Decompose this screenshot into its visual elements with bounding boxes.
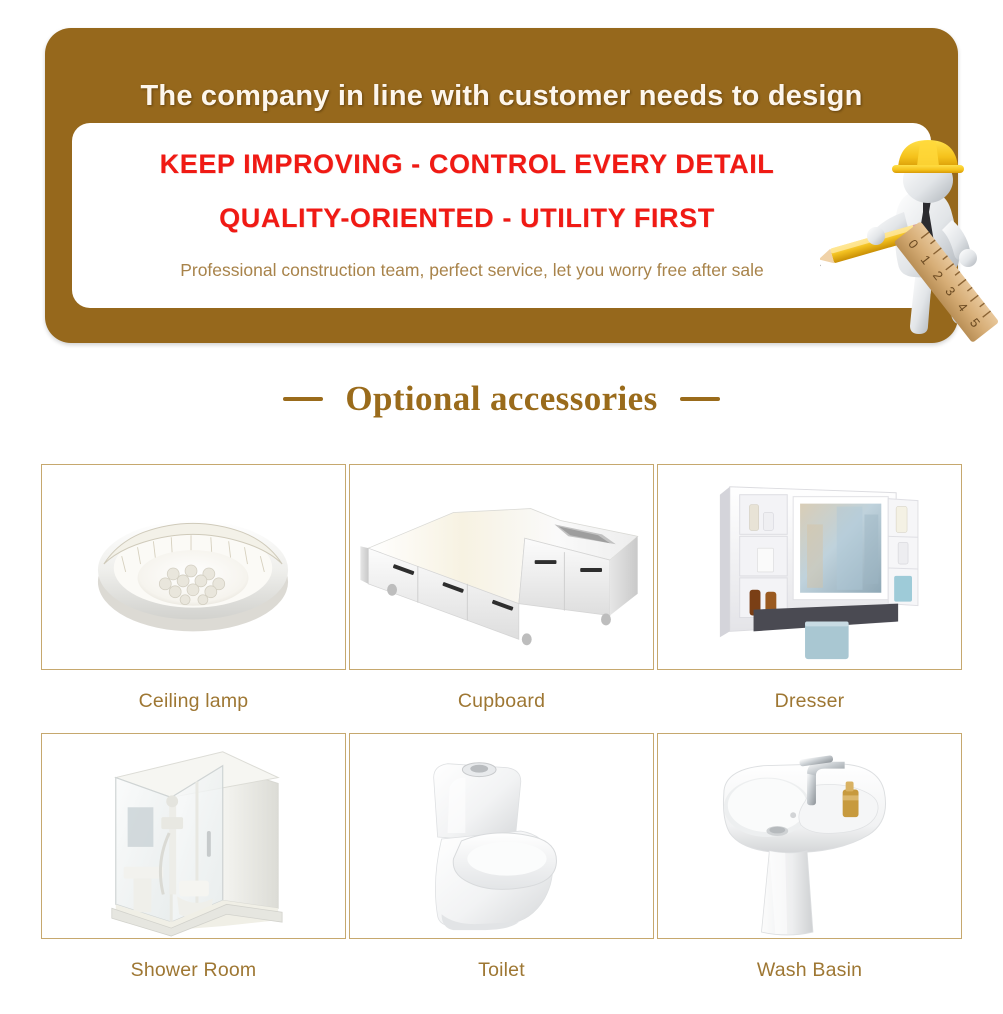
- banner-white-panel: KEEP IMPROVING - CONTROL EVERY DETAIL QU…: [72, 123, 931, 308]
- section-heading-text: Optional accessories: [345, 379, 657, 419]
- slogan-line-2: QUALITY-ORIENTED - UTILITY FIRST: [72, 203, 862, 234]
- section-heading: Optional accessories: [0, 379, 1003, 419]
- toilet-image: [349, 733, 654, 939]
- product-card-wash-basin[interactable]: Wash Basin: [657, 733, 962, 1002]
- product-label: Dresser: [657, 670, 962, 733]
- product-card-cupboard[interactable]: Cupboard: [349, 464, 654, 733]
- shower-room-image: [41, 733, 346, 939]
- product-card-shower-room[interactable]: Shower Room: [41, 733, 346, 1002]
- heading-right-dash-icon: [680, 397, 720, 401]
- product-card-ceiling-lamp[interactable]: Ceiling lamp: [41, 464, 346, 733]
- product-promo-page: The company in line with customer needs …: [0, 0, 1003, 1014]
- product-label: Ceiling lamp: [41, 670, 346, 733]
- product-grid: Ceiling lamp: [41, 464, 962, 1002]
- svg-text:3: 3: [942, 284, 958, 299]
- banner-title: The company in line with customer needs …: [45, 80, 958, 113]
- svg-text:5: 5: [967, 315, 983, 330]
- product-card-dresser[interactable]: Dresser: [657, 464, 962, 733]
- svg-text:4: 4: [955, 299, 971, 314]
- product-label: Toilet: [349, 939, 654, 1002]
- product-label: Cupboard: [349, 670, 654, 733]
- wash-basin-image: [657, 733, 962, 939]
- banner-sub-slogan: Professional construction team, perfect …: [72, 260, 872, 281]
- svg-text:2: 2: [930, 268, 946, 283]
- product-label: Shower Room: [41, 939, 346, 1002]
- cupboard-image: [349, 464, 654, 670]
- ceiling-lamp-image: [41, 464, 346, 670]
- slogan-line-1: KEEP IMPROVING - CONTROL EVERY DETAIL: [72, 149, 862, 180]
- heading-left-dash-icon: [283, 397, 323, 401]
- product-label: Wash Basin: [657, 939, 962, 1002]
- dresser-image: [657, 464, 962, 670]
- promo-banner: The company in line with customer needs …: [45, 28, 958, 343]
- product-card-toilet[interactable]: Toilet: [349, 733, 654, 1002]
